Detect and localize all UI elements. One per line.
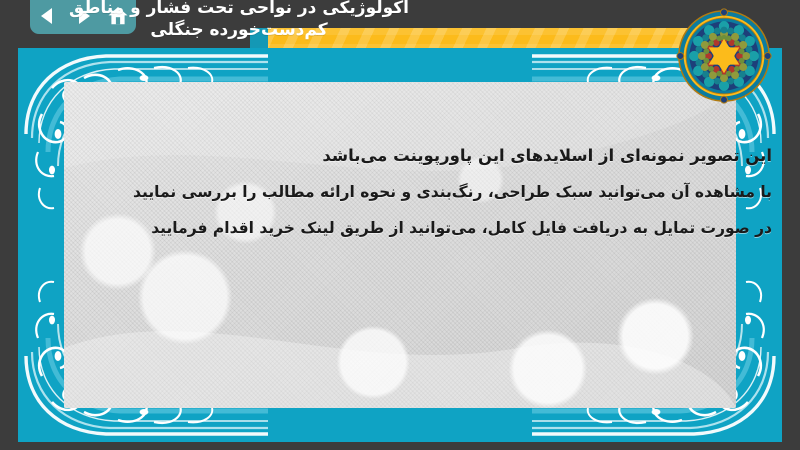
body-line-3: در صورت تمایل به دریافت فایل کامل، می‌تو… (150, 210, 772, 246)
body-line-1: این تصویر نمونه‌ای از اسلایدهای این پاور… (150, 138, 772, 174)
home-button[interactable] (105, 3, 131, 29)
slide-body-text: این تصویر نمونه‌ای از اسلایدهای این پاور… (150, 138, 780, 246)
triangle-left-icon (38, 6, 58, 26)
forward-button[interactable] (70, 3, 96, 29)
back-button[interactable] (35, 3, 61, 29)
slide-viewer: کامل مقایسه تنوع زیستی و عملکرد اکولوژیک… (0, 0, 800, 450)
body-line-2: با مشاهده آن می‌توانید سبک طراحی، رنگ‌بن… (150, 174, 772, 210)
mandala-ornament (676, 8, 772, 104)
triangle-right-icon (73, 6, 93, 26)
navigation-bar (30, 0, 136, 34)
home-icon (107, 5, 129, 27)
